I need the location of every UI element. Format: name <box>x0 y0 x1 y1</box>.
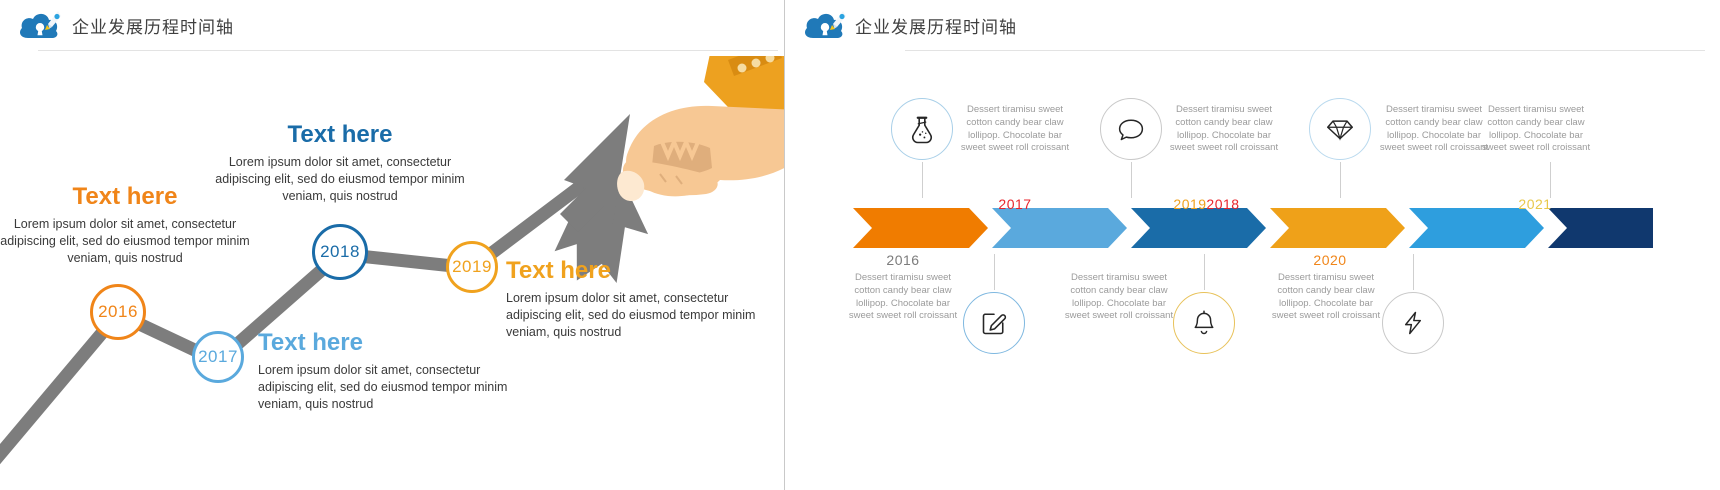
timeline-node-2019[interactable]: 2019 <box>446 241 498 293</box>
arrow-segment-2018 <box>1131 208 1266 248</box>
timeline-block-2017-heading: Text here <box>258 330 508 356</box>
timeline-block-2018-heading: Text here <box>215 122 465 148</box>
zigzag-timeline: 2016 2017 2018 2019 Text here Lorem ipsu… <box>0 56 784 490</box>
step-caption-2021: Dessert tiramisu sweet cotton candy bear… <box>1477 104 1595 155</box>
arrow-segment-2017 <box>992 208 1127 248</box>
hand-pulling-arrow-icon <box>600 56 784 236</box>
arrow-segment-2019 <box>1270 208 1405 248</box>
step-stem-2016 <box>994 254 995 290</box>
left-slide-header: 企业发展历程时间轴 <box>0 0 784 56</box>
step-caption-2018: Dessert tiramisu sweet cotton candy bear… <box>1165 104 1283 155</box>
arrow-segments <box>853 208 1653 248</box>
step-icon-2016[interactable] <box>963 292 1025 354</box>
arrow-segment-2021 <box>1548 208 1653 248</box>
step-year-2020: 2020 <box>1270 252 1390 268</box>
timeline-block-2019-body: Lorem ipsum dolor sit amet, consectetur … <box>506 290 756 341</box>
flask-icon <box>907 114 937 144</box>
left-slide-title: 企业发展历程时间轴 <box>72 13 234 38</box>
timeline-node-2017[interactable]: 2017 <box>192 331 244 383</box>
diamond-icon <box>1326 115 1354 143</box>
timeline-block-2018: Text here Lorem ipsum dolor sit amet, co… <box>215 122 465 205</box>
slide-left: 企业发展历程时间轴 <box>0 0 784 490</box>
step-caption-2021-below: Dessert tiramisu sweet cotton candy bear… <box>1267 272 1385 323</box>
timeline-block-2016: Text here Lorem ipsum dolor sit amet, co… <box>0 184 250 267</box>
timeline-block-2018-body: Lorem ipsum dolor sit amet, consectetur … <box>215 154 465 205</box>
timeline-node-2018[interactable]: 2018 <box>312 224 368 280</box>
step-stem-2019 <box>1204 254 1205 290</box>
right-header-rule <box>905 50 1705 51</box>
step-caption-2019: Dessert tiramisu sweet cotton candy bear… <box>1060 272 1178 323</box>
step-year-2019-below: 2019 <box>1130 196 1250 212</box>
step-year-2017: 2017 <box>955 196 1075 212</box>
step-stem-2017 <box>922 162 923 198</box>
step-stem-2020 <box>1340 162 1341 198</box>
step-icon-2019[interactable] <box>1173 292 1235 354</box>
right-slide-header: 企业发展历程时间轴 <box>795 0 1720 56</box>
edit-pencil-icon <box>980 309 1008 337</box>
timeline-node-2017-label: 2017 <box>198 347 238 367</box>
cloud-rocket-logo <box>18 8 66 44</box>
step-icon-2017[interactable] <box>891 98 953 160</box>
step-stem-2018 <box>1131 162 1132 198</box>
step-year-2016: 2016 <box>843 252 963 268</box>
step-caption-2020: Dessert tiramisu sweet cotton candy bear… <box>1375 104 1493 155</box>
cloud-rocket-logo <box>803 8 851 44</box>
step-caption-2016: Dessert tiramisu sweet cotton candy bear… <box>844 272 962 323</box>
step-stem-2021 <box>1550 162 1551 198</box>
lightning-bolt-icon <box>1400 310 1426 336</box>
timeline-block-2016-heading: Text here <box>0 184 250 210</box>
left-header-rule <box>38 50 778 51</box>
timeline-block-2017-body: Lorem ipsum dolor sit amet, consectetur … <box>258 362 508 413</box>
step-caption-2017: Dessert tiramisu sweet cotton candy bear… <box>956 104 1074 155</box>
arrow-ribbon-timeline: 2017 Dessert tiramisu sweet cotton candy… <box>795 56 1720 490</box>
slide-divider <box>784 0 785 490</box>
timeline-block-2016-body: Lorem ipsum dolor sit amet, consectetur … <box>0 216 250 267</box>
step-year-2021: 2021 <box>1475 196 1595 212</box>
bell-icon <box>1190 309 1218 337</box>
timeline-block-2019-heading: Text here <box>506 258 756 284</box>
step-stem-2021-below <box>1413 254 1414 290</box>
timeline-node-2018-label: 2018 <box>320 242 360 262</box>
arrow-segment-2016 <box>853 208 988 248</box>
step-icon-2018[interactable] <box>1100 98 1162 160</box>
timeline-node-2016-label: 2016 <box>98 302 138 322</box>
right-slide-title: 企业发展历程时间轴 <box>855 13 1017 38</box>
timeline-block-2019: Text here Lorem ipsum dolor sit amet, co… <box>506 258 756 341</box>
timeline-node-2016[interactable]: 2016 <box>90 284 146 340</box>
timeline-block-2017: Text here Lorem ipsum dolor sit amet, co… <box>258 330 508 413</box>
timeline-node-2019-label: 2019 <box>452 257 492 277</box>
speech-bubble-icon <box>1117 115 1145 143</box>
step-icon-2021[interactable] <box>1382 292 1444 354</box>
arrow-segment-2020 <box>1409 208 1544 248</box>
step-icon-2020[interactable] <box>1309 98 1371 160</box>
presentation-stage: 企业发展历程时间轴 <box>0 0 1720 490</box>
slide-right: 企业发展历程时间轴 <box>795 0 1720 490</box>
